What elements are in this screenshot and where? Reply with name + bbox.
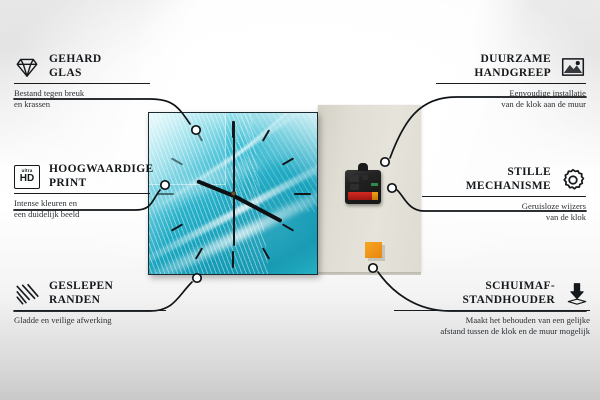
feature-desc-line1: Geruisloze wijzers <box>416 201 586 212</box>
feature-title-line1: STILLE <box>466 166 551 180</box>
feature-divider <box>436 83 586 84</box>
feature-title-line1: SCHUIMAF- <box>463 280 555 294</box>
feature-title-line1: DUURZAME <box>474 53 551 67</box>
feature-title-line1: GEHARD <box>49 53 102 67</box>
feature-desc-line1: Intense kleuren en <box>14 198 186 209</box>
feature-divider <box>14 83 150 84</box>
callout-dot-stille-mechanisme <box>388 184 396 192</box>
feature-desc-line1: Bestand tegen breuk <box>14 88 174 99</box>
diamond-icon <box>14 54 40 80</box>
feature-desc-line2: een duidelijk beeld <box>14 209 186 220</box>
feature-title-line2: PRINT <box>49 177 154 191</box>
feature-desc-line2: van de klok aan de muur <box>414 99 586 110</box>
feature-stille-mechanisme[interactable]: STILLE MECHANISME Geruisloze wijzers van… <box>416 166 586 223</box>
feature-desc-line1: Maakt het behouden van een gelijke <box>378 315 590 326</box>
callout-dot-schuimaf-standhouder <box>369 264 377 272</box>
feature-title-line2: HANDGREEP <box>474 67 551 81</box>
feature-geslepen-randen[interactable]: GESLEPEN RANDEN Gladde en veilige afwerk… <box>14 280 184 326</box>
feature-desc-line2: van de klok <box>416 212 586 223</box>
feature-divider <box>14 193 150 194</box>
feature-gehard-glas[interactable]: GEHARD GLAS Bestand tegen breuk en krass… <box>14 53 174 110</box>
feature-title-line2: STANDHOUDER <box>463 294 555 308</box>
feature-desc-line2: en krassen <box>14 99 174 110</box>
feature-title-line1: HOOGWAARDIGE <box>49 163 154 177</box>
feature-title-line2: RANDEN <box>49 294 113 308</box>
callout-dot-gehard-glas <box>192 126 200 134</box>
bevelled-edges-icon <box>14 281 40 307</box>
gear-icon <box>560 167 586 193</box>
feature-hoogwaardige-print[interactable]: ultra HD HOOGWAARDIGE PRINT Intense kleu… <box>14 163 186 220</box>
foam-standoff-icon <box>564 281 590 307</box>
feature-schuimaf-standhouder[interactable]: SCHUIMAF- STANDHOUDER Maakt het behouden… <box>378 280 590 337</box>
feature-divider <box>394 310 590 311</box>
picture-frame-icon <box>560 54 586 80</box>
feature-title-line2: MECHANISME <box>466 180 551 194</box>
feature-desc-line1: Eenvoudige installatie <box>414 88 586 99</box>
ultra-hd-icon-large-text: HD <box>20 174 34 184</box>
feature-title-line2: GLAS <box>49 67 102 81</box>
feature-desc-line1: Gladde en veilige afwerking <box>14 315 184 326</box>
ultra-hd-icon: ultra HD <box>14 165 40 189</box>
callout-dot-geslepen-randen <box>193 274 201 282</box>
feature-divider <box>14 310 166 311</box>
feature-divider <box>422 196 586 197</box>
feature-desc-line2: afstand tussen de klok en de muur mogeli… <box>378 326 590 337</box>
feature-duurzame-handgreep[interactable]: DUURZAME HANDGREEP Eenvoudige installati… <box>414 53 586 110</box>
callout-dot-duurzame-handgreep <box>381 158 389 166</box>
feature-title-line1: GESLEPEN <box>49 280 113 294</box>
